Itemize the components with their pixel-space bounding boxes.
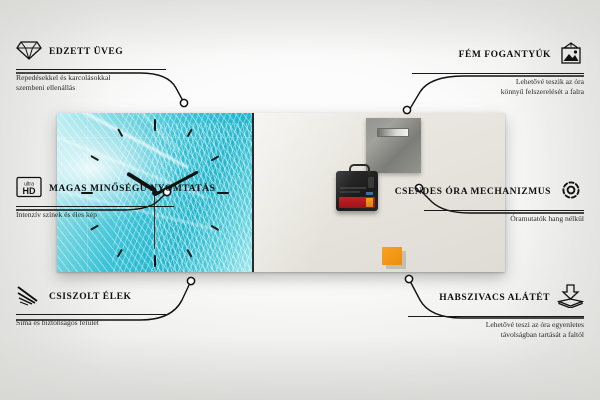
connector-endpoint [405,275,412,282]
feature-description: Repedésekkel és karcolásokkal szembeni e… [16,73,166,92]
metal-hanger-plate [366,118,421,173]
feature-description: Lehetővé teszik az óra könnyű felszerelé… [412,77,584,96]
clock-tick [217,192,229,194]
mechanism-knob [368,177,374,188]
feature-silent-mechanism: CSENDES ÓRA MECHANIZMUS Óramutatók hang … [424,178,584,224]
feature-title: EDZETT ÜVEG [49,47,123,59]
foam-pad [382,247,402,265]
feature-metal-handles: FÉM FOGANTYÚK Lehetővé teszik az óra kön… [412,42,584,96]
mechanism-marker [366,192,373,195]
divider [16,69,166,70]
feature-tempered-glass: EDZETT ÜVEG Repedésekkel és karcolásokka… [16,40,166,92]
connector-endpoint [187,277,194,284]
feature-description: Sima és biztonságos felület [16,318,166,328]
polished-edges-icon [16,284,42,311]
svg-text:HD: HD [23,186,36,196]
feature-title: CSISZOLT ÉLEK [49,292,131,304]
mechanism-hook [349,164,370,175]
divider [412,73,584,74]
feature-title: FÉM FOGANTYÚK [459,50,551,62]
feature-description: Lehetővé teszi az óra egyenletes távolsá… [408,320,584,339]
feature-description: Intenzív színek és éles kép [16,210,174,220]
divider [16,314,166,315]
connector-endpoint [180,99,187,106]
feature-description: Óramutatók hang nélkül [424,214,584,224]
feature-title: MAGAS MINŐSÉGŰ NYOMTATÁS [49,184,215,196]
hanger-slot [377,128,409,137]
divider [424,210,584,211]
feature-title: HABSZIVACS ALÁTÉT [439,293,550,305]
gear-icon [558,178,584,207]
wall-hanging-icon [558,42,584,70]
divider [408,316,584,317]
mechanism-battery-label [339,197,375,208]
feature-title: CSENDES ÓRA MECHANIZMUS [395,187,551,199]
feature-high-quality-print: ultra HD MAGAS MINŐSÉGŰ NYOMTATÁS Intenz… [16,176,174,220]
clock-tick [154,255,156,267]
ultra-hd-icon: ultra HD [16,176,42,203]
divider [16,206,174,207]
mechanism-seam [340,187,366,189]
diamond-icon [16,40,42,66]
mechanism-seam [340,191,360,193]
clock-mechanism [336,171,378,211]
clock-tick [154,119,156,131]
feature-polished-edges: CSISZOLT ÉLEK Sima és biztonságos felüle… [16,284,166,328]
infographic-canvas: EDZETT ÜVEG Repedésekkel és karcolásokka… [0,0,600,400]
foam-pad-icon [557,284,584,313]
feature-foam-backing: HABSZIVACS ALÁTÉT Lehetővé teszi az óra … [408,284,584,339]
